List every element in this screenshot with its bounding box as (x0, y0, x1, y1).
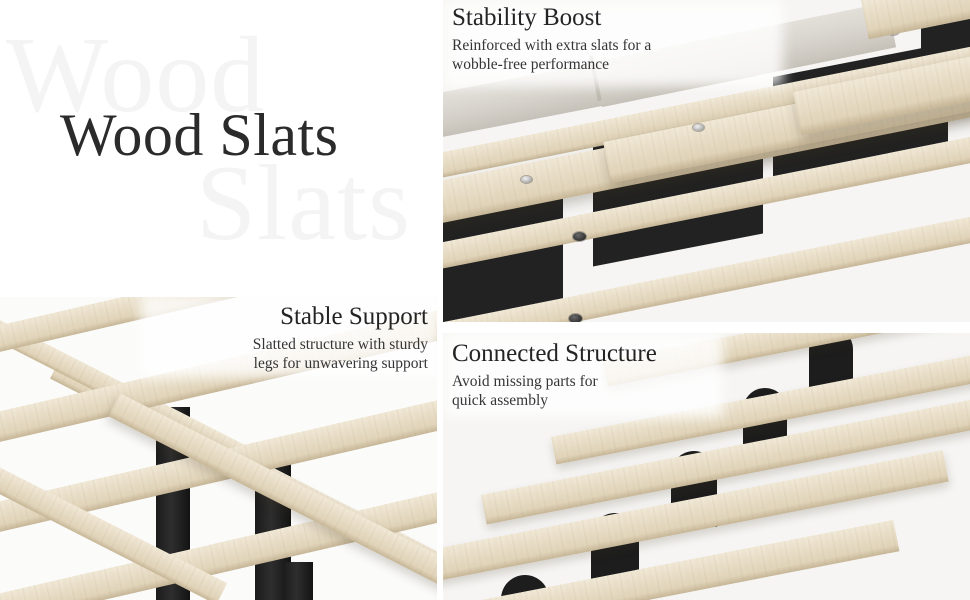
stability-text-block: Stability Boost Reinforced with extra sl… (452, 4, 651, 75)
infographic-canvas: Wood Slats Wood Slats (0, 0, 970, 600)
connected-text-block: Connected Structure Avoid missing parts … (452, 340, 657, 411)
screw-head (521, 176, 532, 183)
connected-subtext: Avoid missing parts for quick assembly (452, 373, 657, 411)
support-heading: Stable Support (0, 303, 428, 332)
connected-heading: Connected Structure (452, 340, 657, 369)
metal-leg (283, 562, 313, 600)
screw-head (573, 232, 586, 241)
screw-head (693, 124, 704, 131)
stability-subtext: Reinforced with extra slats for a wobble… (452, 37, 651, 75)
support-text-block: Stable Support Slatted structure with st… (0, 303, 437, 374)
support-subtext: Slatted structure with sturdy legs for u… (0, 336, 428, 374)
stability-heading: Stability Boost (452, 4, 651, 33)
title-panel: Wood Slats Wood Slats (0, 0, 437, 295)
page-title: Wood Slats (60, 104, 339, 167)
screw-head (569, 314, 582, 322)
